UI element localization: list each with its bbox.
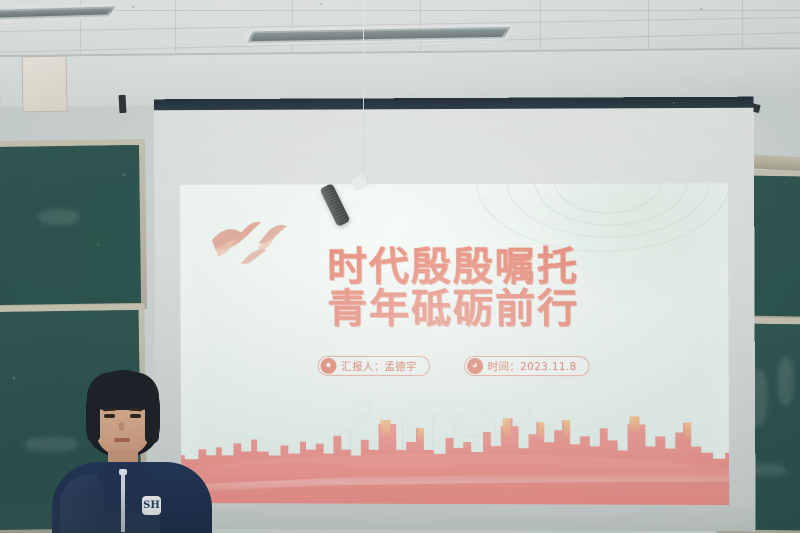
- slide-title: 时代殷殷嘱托 青年砥砺前行: [180, 246, 728, 331]
- slide-title-line-2: 青年砥砺前行: [180, 288, 728, 331]
- wall-junction-box-icon: [22, 56, 68, 113]
- presenter-badge: ● 汇报人：孟德宇: [317, 356, 429, 376]
- screen-mount-bracket-icon: [119, 95, 127, 113]
- date-label: 时间：2023.11.8: [488, 359, 577, 374]
- fixture-suspension-wire: [363, 0, 364, 182]
- projected-slide: ✦ 时代殷殷嘱托 青年砥砺前行 ● 汇报人：孟德宇: [180, 183, 729, 521]
- projector-screen: ▪ ·· ·· ✦ 时代殷殷嘱托 青年砥砺前行: [154, 97, 756, 532]
- zipper-pull: [119, 469, 127, 475]
- blackboard-left-upper: [0, 139, 147, 311]
- screen-housing-label: ▪ ·· ··: [673, 100, 685, 105]
- classroom-presentation-scene: ▪ ·· ·· ✦ 时代殷殷嘱托 青年砥砺前行: [0, 0, 800, 533]
- floor-shadow: [0, 493, 160, 533]
- eye-right: [130, 414, 141, 418]
- nose: [119, 422, 124, 431]
- person-icon: ●: [320, 358, 336, 374]
- hair-side-left: [87, 394, 100, 442]
- screen-bottom-strip: [156, 503, 756, 531]
- recessed-fluorescent-light-icon: [0, 5, 117, 20]
- slide-meta-row: ● 汇报人：孟德宇 ◕ 时间：2023.11.8: [181, 356, 729, 377]
- eye-left: [104, 414, 115, 418]
- presenter-label: 汇报人：孟德宇: [341, 358, 416, 373]
- date-badge: ◕ 时间：2023.11.8: [464, 356, 590, 376]
- hair-side-right: [145, 394, 159, 444]
- mouth: [114, 438, 130, 442]
- clock-icon: ◕: [467, 358, 483, 374]
- slide-title-line-1: 时代殷殷嘱托: [180, 246, 728, 289]
- recessed-fluorescent-light-icon: [245, 26, 512, 44]
